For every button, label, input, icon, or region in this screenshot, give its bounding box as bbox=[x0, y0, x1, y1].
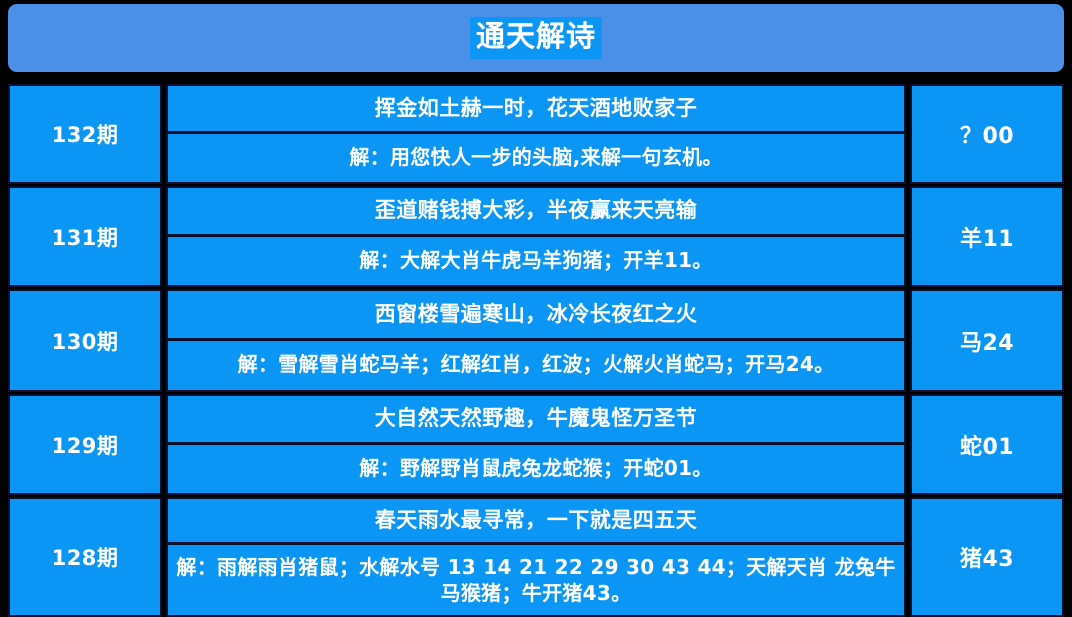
answer-text: 解：雨解雨肖猪鼠；水解水号 13 14 21 22 29 30 43 44；天解… bbox=[176, 554, 896, 607]
answer-line: 解：大解大肖牛虎马羊狗猪；开羊11。 bbox=[168, 237, 904, 286]
answer-line: 解：用您快人一步的头脑,来解一句玄机。 bbox=[168, 134, 904, 182]
poem-line: 大自然天然野趣，牛魔鬼怪万圣节 bbox=[168, 396, 904, 445]
answer-line: 解：雪解雪肖蛇马羊；红解红肖，红波；火解火肖蛇马；开马24。 bbox=[168, 341, 904, 391]
result-cell: 羊11 bbox=[910, 186, 1064, 287]
table-row[interactable]: 129期 大自然天然野趣，牛魔鬼怪万圣节 解：野解野肖鼠虎兔龙蛇猴；开蛇01。 … bbox=[8, 394, 1064, 495]
answer-line: 解：野解野肖鼠虎兔龙蛇猴；开蛇01。 bbox=[168, 445, 904, 494]
period-cell: 128期 bbox=[8, 497, 162, 617]
content-cell: 春天雨水最寻常，一下就是四五天 解：雨解雨肖猪鼠；水解水号 13 14 21 2… bbox=[166, 497, 906, 617]
period-cell: 131期 bbox=[8, 186, 162, 287]
table-row[interactable]: 130期 西窗楼雪遍寒山，冰冷长夜红之火 解：雪解雪肖蛇马羊；红解红肖，红波；火… bbox=[8, 289, 1064, 392]
content-cell: 挥金如土赫一时，花天酒地败家子 解：用您快人一步的头脑,来解一句玄机。 bbox=[166, 84, 906, 184]
content-cell: 西窗楼雪遍寒山，冰冷长夜红之火 解：雪解雪肖蛇马羊；红解红肖，红波；火解火肖蛇马… bbox=[166, 289, 906, 392]
header-title-plate: 通天解诗 bbox=[470, 17, 602, 58]
period-cell: 132期 bbox=[8, 84, 162, 184]
answer-line: 解：雨解雨肖猪鼠；水解水号 13 14 21 22 29 30 43 44；天解… bbox=[168, 545, 904, 615]
poem-line: 挥金如土赫一时，花天酒地败家子 bbox=[168, 86, 904, 134]
page-title: 通天解诗 bbox=[476, 20, 596, 53]
content-cell: 大自然天然野趣，牛魔鬼怪万圣节 解：野解野肖鼠虎兔龙蛇猴；开蛇01。 bbox=[166, 394, 906, 495]
period-cell: 129期 bbox=[8, 394, 162, 495]
result-cell: 马24 bbox=[910, 289, 1064, 392]
poem-line: 歪道赌钱搏大彩，半夜赢来天亮输 bbox=[168, 188, 904, 237]
period-cell: 130期 bbox=[8, 289, 162, 392]
table-row[interactable]: 131期 歪道赌钱搏大彩，半夜赢来天亮输 解：大解大肖牛虎马羊狗猪；开羊11。 … bbox=[8, 186, 1064, 287]
result-cell: 蛇01 bbox=[910, 394, 1064, 495]
header-banner: 通天解诗 bbox=[8, 4, 1064, 72]
result-cell: ？00 bbox=[910, 84, 1064, 184]
content-cell: 歪道赌钱搏大彩，半夜赢来天亮输 解：大解大肖牛虎马羊狗猪；开羊11。 bbox=[166, 186, 906, 287]
table-row[interactable]: 128期 春天雨水最寻常，一下就是四五天 解：雨解雨肖猪鼠；水解水号 13 14… bbox=[8, 497, 1064, 617]
poem-line: 西窗楼雪遍寒山，冰冷长夜红之火 bbox=[168, 291, 904, 341]
page-root: 通天解诗 132期 挥金如土赫一时，花天酒地败家子 解：用您快人一步的头脑,来解… bbox=[0, 0, 1072, 606]
table-row[interactable]: 132期 挥金如土赫一时，花天酒地败家子 解：用您快人一步的头脑,来解一句玄机。… bbox=[8, 84, 1064, 184]
result-cell: 猪43 bbox=[910, 497, 1064, 617]
answer-line-1: 解：雨解雨肖猪鼠；水解水号 13 14 21 22 29 30 43 44；天解… bbox=[176, 555, 827, 579]
poem-line: 春天雨水最寻常，一下就是四五天 bbox=[168, 499, 904, 545]
